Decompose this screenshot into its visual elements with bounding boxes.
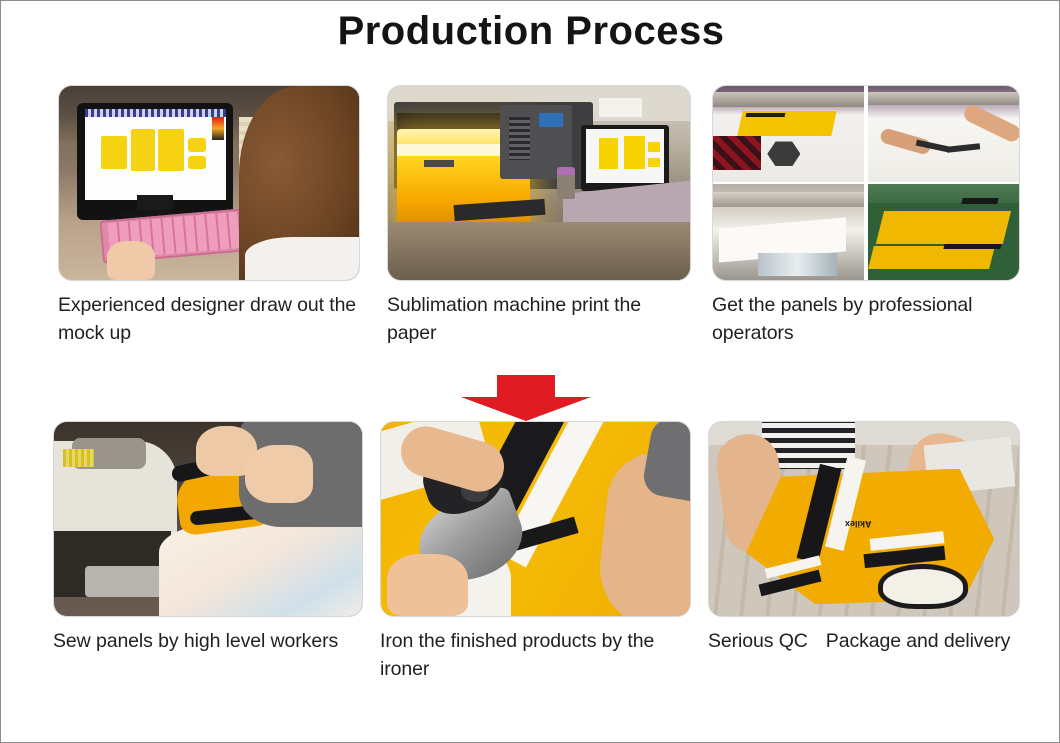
step-6: Akilex Serious QC Package and delivery — [708, 421, 1020, 656]
collage-tile-transfer-paper — [713, 184, 864, 280]
photo-qc-packaging: Akilex — [709, 422, 1019, 616]
collage-tile-green-table — [868, 184, 1019, 280]
worker-hand-right — [245, 445, 313, 503]
step-3: Get the panels by professional operators — [712, 85, 1020, 347]
bottle-cap — [557, 167, 575, 175]
step-6-image: Akilex — [708, 421, 1020, 617]
color-swatch-palette — [212, 117, 224, 140]
screen-panel-3 — [648, 142, 660, 152]
ironer-hand-left — [387, 554, 467, 616]
machine-sign — [599, 98, 641, 117]
jersey-collar — [883, 569, 964, 604]
screen-panel-2 — [624, 136, 645, 169]
design-panel-sleeve-1 — [188, 138, 206, 152]
design-panel-sleeve-2 — [188, 156, 206, 170]
control-buttons — [509, 117, 530, 160]
design-panel-body-left — [131, 129, 155, 172]
step-2: Sublimation machine print the paper — [387, 85, 691, 347]
step-5-image — [380, 421, 691, 617]
step-1: Experienced designer draw out the mock u… — [58, 85, 360, 347]
collage-tile-heat-press — [713, 86, 864, 182]
step-6-caption-row: Serious QC Package and delivery — [708, 628, 1020, 656]
designer-hand — [107, 241, 155, 280]
photo-sewing — [54, 422, 362, 616]
step-1-image — [58, 85, 360, 281]
photo-designer-at-computer — [59, 86, 359, 280]
page-title: Production Process — [1, 9, 1060, 54]
roll-black-panel — [424, 160, 454, 168]
design-panel-body-right — [158, 129, 184, 172]
software-toolbar — [85, 109, 226, 117]
step-4-caption: Sew panels by high level workers — [53, 628, 363, 656]
red-down-arrow-icon — [461, 375, 591, 421]
photo-ironing — [381, 422, 690, 616]
control-display — [539, 113, 563, 127]
production-process-page: Production Process — [0, 0, 1060, 743]
collage-tile-cutting — [868, 86, 1019, 182]
designer-shirt — [245, 237, 360, 281]
thread-spool — [63, 449, 94, 466]
step-6-caption-primary: Serious QC — [708, 628, 808, 656]
jersey-brand-text: Akilex — [845, 519, 872, 529]
step-2-caption: Sublimation machine print the paper — [387, 292, 691, 347]
water-bottle — [557, 171, 575, 198]
screen-panel-1 — [599, 138, 617, 169]
fabric-panel — [159, 523, 363, 617]
step-5: Iron the finished products by the ironer — [380, 421, 691, 683]
photo-panel-collage — [713, 86, 1019, 280]
step-2-image — [387, 85, 691, 281]
step-5-caption: Iron the finished products by the ironer — [380, 628, 691, 683]
photo-sublimation-printer — [388, 86, 690, 280]
floor — [388, 222, 690, 280]
step-6-caption-secondary: Package and delivery — [826, 628, 1010, 656]
step-4: Sew panels by high level workers — [53, 421, 363, 656]
step-3-image — [712, 85, 1020, 281]
screen-panel-4 — [648, 158, 660, 168]
step-4-image — [53, 421, 363, 617]
step-1-caption: Experienced designer draw out the mock u… — [58, 292, 360, 347]
step-3-caption: Get the panels by professional operators — [712, 292, 1020, 347]
design-panel-jersey-front — [101, 136, 127, 169]
